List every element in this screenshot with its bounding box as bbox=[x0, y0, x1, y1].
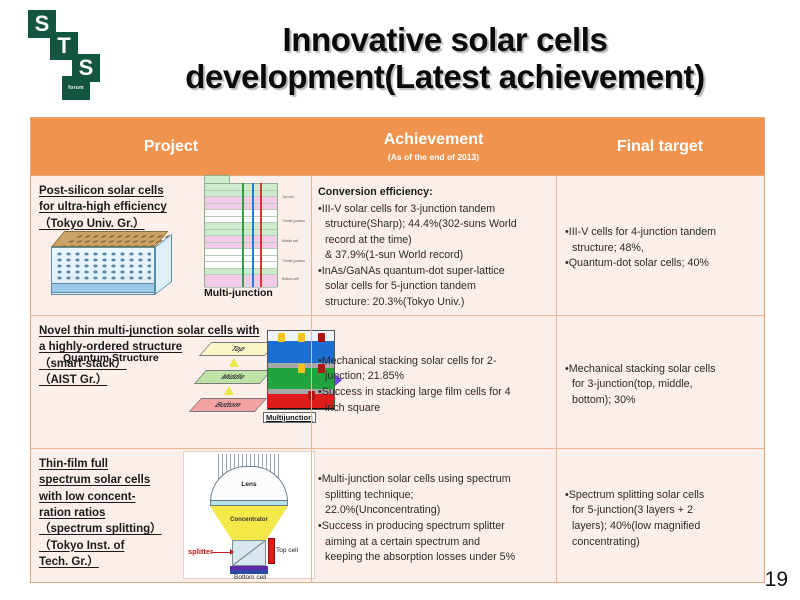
row3-target-item: concentrating) bbox=[565, 535, 756, 551]
up-arrow-icon bbox=[224, 386, 234, 395]
bottom-cell-label: Bottom cell bbox=[234, 574, 266, 582]
stack-annotation-tunnel1: Tunnel junction bbox=[282, 219, 305, 223]
row1-achievement-cell: Conversion efficiency: •III-V solar cell… bbox=[311, 176, 556, 315]
row3-achievement-text: •Multi-junction solar cells using spectr… bbox=[318, 458, 550, 580]
multijunction-layer-stack bbox=[204, 183, 278, 287]
row2-target-item: bottom); 30% bbox=[565, 393, 756, 409]
quantum-structure-substrate bbox=[51, 283, 155, 293]
quantum-structure-top-face bbox=[51, 231, 168, 247]
row2-target-cell: •Mechanical stacking solar cells for 3-j… bbox=[556, 316, 764, 448]
quantum-structure-diagram: Quantum Structure bbox=[47, 231, 175, 311]
row1-project-title-line2: for ultra-high efficiency bbox=[39, 201, 167, 213]
row2-achievement-item: junction; 21.85% bbox=[318, 369, 550, 385]
row3-project-cell: Thin-film full spectrum solar cells with… bbox=[31, 449, 311, 583]
row3-target-cell: •Spectrum splitting solar cells for 5-ju… bbox=[556, 449, 764, 583]
row3-achievement-cell: •Multi-junction solar cells using spectr… bbox=[311, 449, 556, 583]
column-header-project-label: Project bbox=[144, 138, 198, 156]
splitter-leader-line bbox=[212, 552, 232, 553]
row3-project-title-line1: Thin-film full bbox=[39, 458, 108, 470]
row1-achievement-item: structure: 20.3%(Tokyo Univ.) bbox=[318, 295, 550, 311]
row3-achievement-item: splitting technique; bbox=[318, 488, 550, 504]
row2-project-title-line1: Novel thin multi-junction solar cells wi… bbox=[39, 325, 259, 337]
slide-title: Innovative solar cells development(Lates… bbox=[100, 22, 790, 96]
stack-annotation-topcell: Top cell bbox=[282, 195, 294, 199]
row1-project-title-line1: Post-silicon solar cells bbox=[39, 185, 164, 197]
row1-target-item: •Quantum-dot solar cells; 40% bbox=[565, 256, 756, 272]
row3-achievement-item: 22.0%(Unconcentrating) bbox=[318, 503, 550, 519]
carrier-dot-yellow bbox=[298, 333, 305, 342]
row1-achievement-item: solar cells for 5-junction tandem bbox=[318, 279, 550, 295]
row2-achievement-cell: •Mechanical stacking solar cells for 2- … bbox=[311, 316, 556, 448]
row3-achievement-item: keeping the absorption losses under 5% bbox=[318, 550, 550, 566]
multijunction-caption: Multi-junction bbox=[204, 287, 273, 299]
row1-target-cell: •III-V cells for 4-junction tandem struc… bbox=[556, 176, 764, 315]
row1-target-item: •III-V cells for 4-junction tandem bbox=[565, 225, 756, 241]
row3-target-item: for 5-junction(3 layers + 2 bbox=[565, 503, 756, 519]
row3-project-title-line7: Tech. Gr.） bbox=[39, 556, 99, 568]
row3-project-title-line6: （Tokyo Inst. of bbox=[39, 540, 124, 552]
row2-achievement-item: •Mechanical stacking solar cells for 2- bbox=[318, 354, 550, 370]
row2-project-cell: Novel thin multi-junction solar cells wi… bbox=[31, 316, 311, 448]
row1-achievement-item: •III-V solar cells for 3-junction tandem bbox=[318, 202, 550, 218]
spectrum-splitting-diagram: Lens Concentrator splitter Top cell Bott… bbox=[183, 451, 315, 579]
splitter-arrow-icon bbox=[230, 549, 234, 555]
row1-achievement-heading: Conversion efficiency: bbox=[318, 185, 550, 201]
row1-project-cell: Post-silicon solar cells for ultra-high … bbox=[31, 176, 311, 315]
row2-target-item: for 3-junction(top, middle, bbox=[565, 377, 756, 393]
plate-bottom: Bottom bbox=[189, 398, 268, 412]
top-cell-label: Top cell bbox=[276, 547, 298, 554]
table-row: Post-silicon solar cells for ultra-high … bbox=[31, 176, 764, 316]
row3-target-item: layers); 40%(low magnified bbox=[565, 519, 756, 535]
achievement-table: Project Achievement (As of the end of 20… bbox=[30, 117, 765, 583]
row3-project-title-line3: with low concent- bbox=[39, 491, 135, 503]
row1-achievement-text: Conversion efficiency: •III-V solar cell… bbox=[318, 185, 550, 310]
row1-achievement-item: & 37.9%(1-sun World record) bbox=[318, 248, 550, 264]
row3-project-title-line4: ration ratios bbox=[39, 507, 105, 519]
splitter-diagonal-line bbox=[232, 540, 266, 566]
row3-achievement-item: aiming at a certain spectrum and bbox=[318, 535, 550, 551]
row2-project-title-line3: （smart-stack） bbox=[39, 358, 127, 370]
row1-achievement-item: •InAs/GaNAs quantum-dot super-lattice bbox=[318, 264, 550, 280]
row1-project-title-line3: （Tokyo Univ. Gr.） bbox=[39, 218, 145, 230]
stack-annotation-line-blue bbox=[252, 183, 254, 287]
column-header-project: Project bbox=[31, 118, 311, 175]
stack-annotation-line-green bbox=[242, 183, 244, 287]
quantum-dots-front bbox=[55, 251, 151, 281]
row2-target-item: •Mechanical stacking solar cells bbox=[565, 362, 756, 378]
column-header-final-target: Final target bbox=[556, 118, 764, 175]
row1-target-item: structure; 48%, bbox=[565, 241, 756, 257]
row3-project-title-line5: （spectrum splitting） bbox=[39, 523, 162, 535]
row1-target-text: •III-V cells for 4-junction tandem struc… bbox=[565, 185, 756, 312]
row3-achievement-item: •Multi-junction solar cells using spectr… bbox=[318, 472, 550, 488]
row3-target-text: •Spectrum splitting solar cells for 5-ju… bbox=[565, 458, 756, 580]
row2-achievement-text: •Mechanical stacking solar cells for 2- … bbox=[318, 325, 550, 445]
row2-project-title-line4: （AIST Gr.） bbox=[39, 374, 107, 386]
column-header-achievement-sublabel: (As of the end of 2013) bbox=[388, 152, 479, 162]
stack-annotation-line-red bbox=[260, 183, 262, 287]
row2-achievement-item: •Success in stacking large film cells fo… bbox=[318, 385, 550, 401]
stack-annotation-bottomcell: Bottom cell bbox=[282, 277, 299, 281]
table-row: Thin-film full spectrum solar cells with… bbox=[31, 449, 764, 583]
slide-title-line2: development(Latest achievement) bbox=[100, 59, 790, 96]
logo-square-forum: forum bbox=[62, 76, 90, 100]
up-arrow-icon bbox=[229, 358, 239, 367]
lens-interface-band bbox=[210, 500, 288, 506]
carrier-dot-yellow bbox=[278, 333, 285, 342]
table-row: Novel thin multi-junction solar cells wi… bbox=[31, 316, 764, 449]
row3-project-title-line2: spectrum solar cells bbox=[39, 474, 150, 486]
row2-achievement-item: inch square bbox=[318, 401, 550, 417]
splitter-label: splitter bbox=[188, 547, 213, 556]
stack-annotation-tunnel2: Tunnel junction bbox=[282, 259, 305, 263]
top-cell-block bbox=[268, 538, 275, 564]
multijunction-stack-diagram: Top cell Tunnel junction Middle cell Tun… bbox=[196, 179, 308, 297]
slide-title-line1: Innovative solar cells bbox=[282, 21, 607, 58]
row2-project-title-line2: a highly-ordered structure bbox=[39, 341, 182, 353]
concentrator-element: Concentrator bbox=[210, 506, 288, 540]
row3-achievement-item: •Success in producing spectrum splitter bbox=[318, 519, 550, 535]
row3-project-title: Thin-film full spectrum solar cells with… bbox=[39, 456, 179, 570]
row1-achievement-item: structure(Sharp); 44.4%(302-suns World bbox=[318, 217, 550, 233]
column-header-achievement-label: Achievement bbox=[384, 131, 484, 149]
row2-target-text: •Mechanical stacking solar cells for 3-j… bbox=[565, 325, 756, 445]
multijunction-color-caption: Multijunction bbox=[263, 412, 316, 423]
row3-target-item: •Spectrum splitting solar cells bbox=[565, 488, 756, 504]
table-header-row: Project Achievement (As of the end of 20… bbox=[31, 118, 764, 176]
carrier-dot-yellow bbox=[298, 364, 305, 373]
stack-annotation-middlecell: Middle cell bbox=[282, 239, 298, 243]
sts-forum-logo: S T S forum bbox=[28, 10, 106, 102]
column-header-final-target-label: Final target bbox=[617, 138, 703, 156]
page-number: 19 bbox=[765, 568, 788, 592]
row1-achievement-item: record at the time) bbox=[318, 233, 550, 249]
column-header-achievement: Achievement (As of the end of 2013) bbox=[311, 118, 556, 175]
